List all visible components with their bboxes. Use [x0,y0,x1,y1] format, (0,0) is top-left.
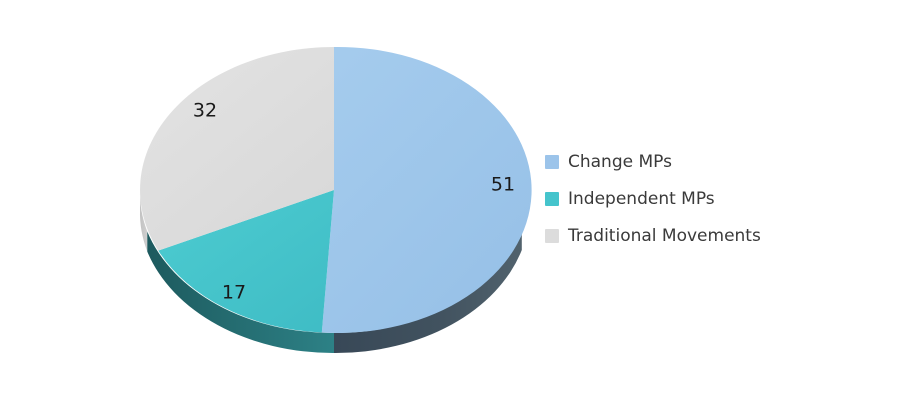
legend-swatch-icon [545,229,559,243]
legend-label: Change MPs [568,152,672,172]
legend-swatch-icon [545,192,559,206]
chart-legend: Change MPs Independent MPs Traditional M… [545,152,761,246]
pie-chart-svg: 51 17 32 [0,0,900,410]
chart-screenshot: 51 17 32 Change MPs Independent MPs Trad… [0,0,900,410]
pie-label-traditional-movements: 32 [193,100,217,122]
legend-item-independent-mps[interactable]: Independent MPs [545,189,761,209]
pie-chart: 51 17 32 [0,0,900,410]
legend-swatch-icon [545,155,559,169]
pie-label-independent-mps: 17 [222,282,246,304]
legend-item-traditional-movements[interactable]: Traditional Movements [545,226,761,246]
pie-label-change-mps: 51 [491,174,515,196]
legend-label: Independent MPs [568,189,715,209]
legend-item-change-mps[interactable]: Change MPs [545,152,761,172]
legend-label: Traditional Movements [568,226,761,246]
pie-top-faces [140,47,532,333]
